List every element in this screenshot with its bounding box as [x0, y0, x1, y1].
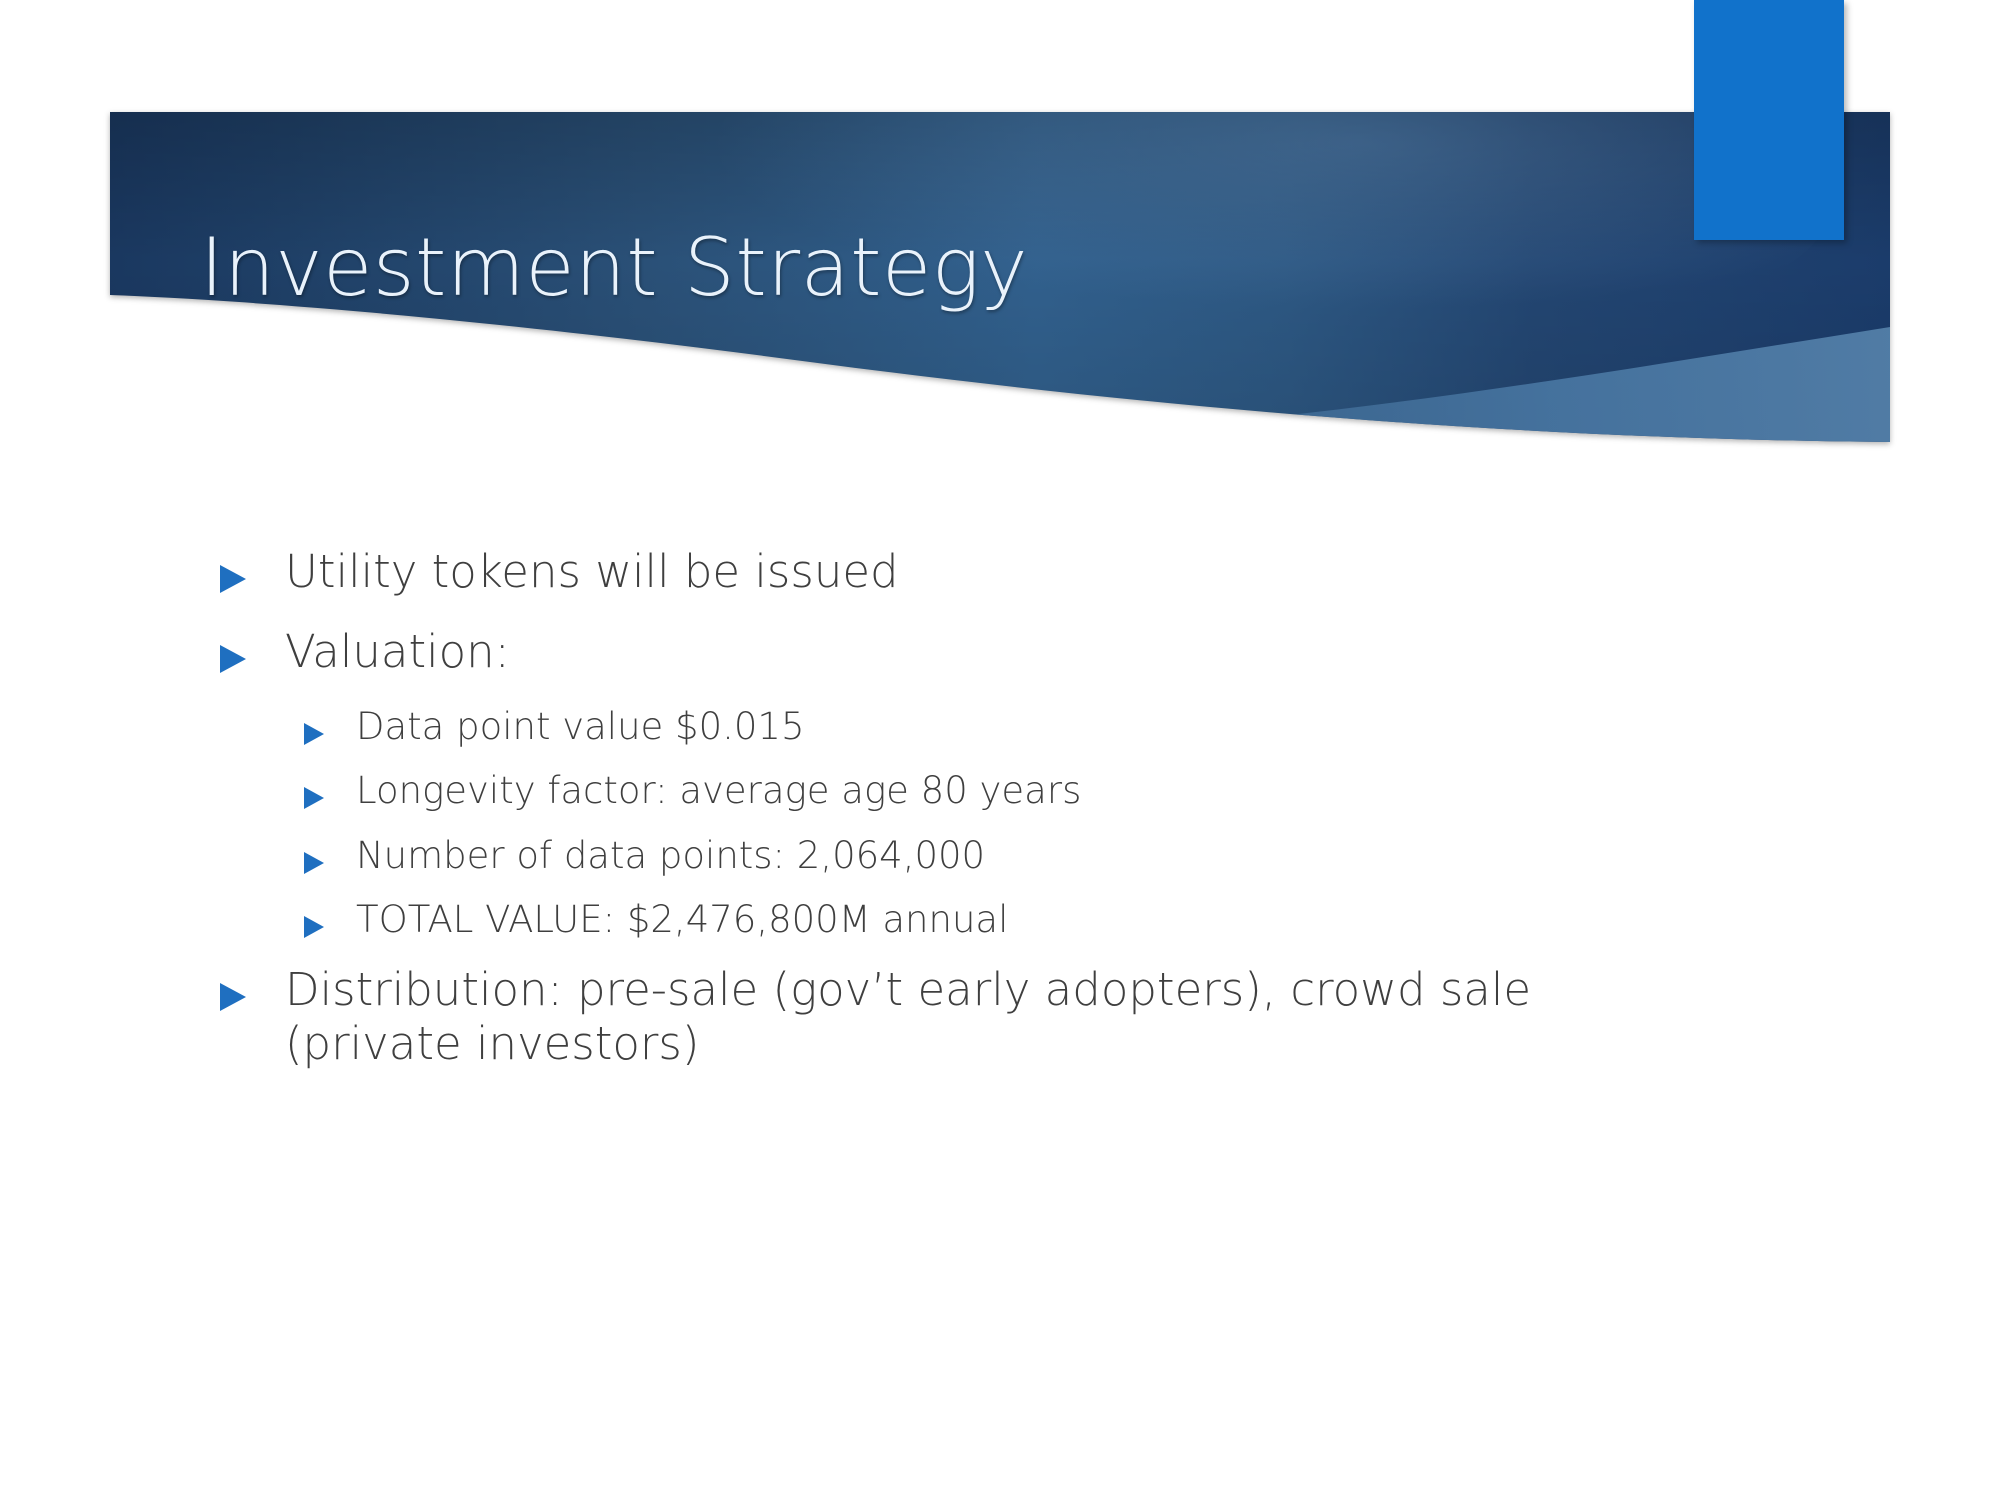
list-item: Distribution: pre-sale (gov’t early adop… — [0, 963, 2000, 1071]
triangle-right-bullet-icon — [218, 545, 248, 595]
slide-header: Investment Strategy — [0, 0, 2000, 470]
list-item: TOTAL VALUE: $2,476,800M annual — [0, 898, 2000, 942]
triangle-right-bullet-icon — [302, 705, 326, 747]
triangle-right-bullet-icon — [302, 834, 326, 876]
triangle-right-bullet-icon — [302, 898, 326, 940]
list-item-label: Data point value $0.015 — [356, 705, 805, 749]
accent-bar-decoration — [1694, 0, 1844, 240]
list-item: Utility tokens will be issued — [0, 545, 2000, 599]
presentation-slide: Investment Strategy Utility tokens will … — [0, 0, 2000, 1500]
list-item-label: Distribution: pre-sale (gov’t early adop… — [285, 963, 1635, 1071]
list-item: Longevity factor: average age 80 years — [0, 769, 2000, 813]
list-item-label: Valuation: — [285, 625, 510, 679]
list-item: Data point value $0.015 — [0, 705, 2000, 749]
list-item: Number of data points: 2,064,000 — [0, 834, 2000, 878]
list-item-label: Number of data points: 2,064,000 — [356, 834, 985, 878]
list-item: Valuation: — [0, 625, 2000, 679]
list-item-label: TOTAL VALUE: $2,476,800M annual — [356, 898, 1008, 942]
slide-body-content: Utility tokens will be issued Valuation:… — [0, 545, 2000, 1097]
triangle-right-bullet-icon — [302, 769, 326, 811]
page-title: Investment Strategy — [200, 228, 1500, 308]
list-item-label: Longevity factor: average age 80 years — [356, 769, 1081, 813]
triangle-right-bullet-icon — [218, 625, 248, 675]
triangle-right-bullet-icon — [218, 963, 248, 1013]
list-item-label: Utility tokens will be issued — [285, 545, 899, 599]
